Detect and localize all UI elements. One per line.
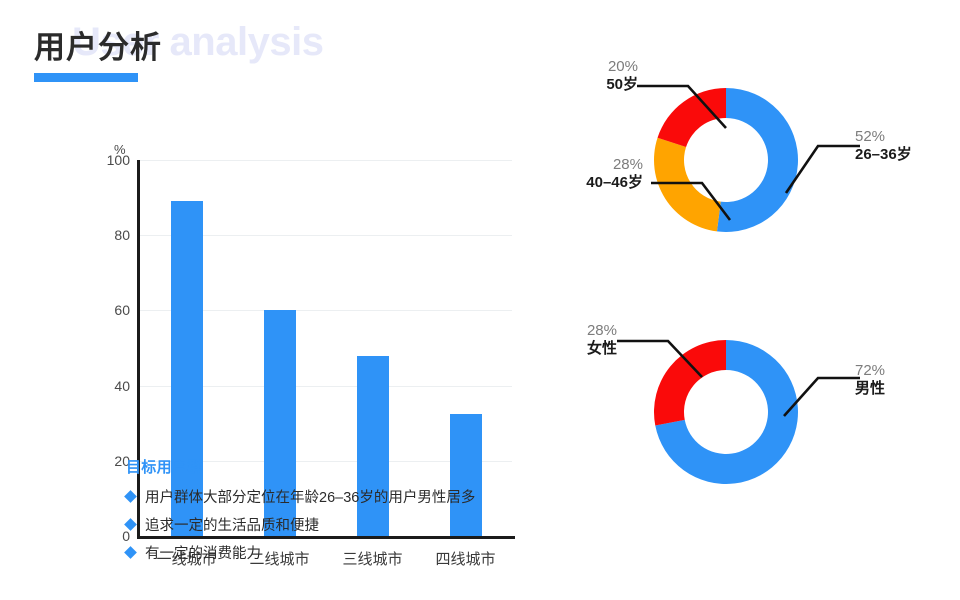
diamond-icon: [124, 546, 137, 559]
donut-age-label-50: 20% 50岁: [540, 58, 638, 95]
diamond-icon: [124, 490, 137, 503]
target-user-group-panel: 目标用户群 用户群体大部分定位在年龄26–36岁的用户男性居多追求一定的生活品质…: [126, 456, 546, 570]
donut-age-name-26-36: 26–36岁: [855, 146, 912, 164]
donut-slice[interactable]: [654, 138, 721, 232]
bar-chart-y-tick: 40: [114, 378, 130, 394]
list-item: 追求一定的生活品质和便捷: [126, 514, 546, 535]
list-item-label: 用户群体大部分定位在年龄26–36岁的用户男性居多: [145, 486, 475, 507]
donut-age-pct-50: 20%: [540, 58, 638, 76]
donut-age-label-26-36: 52% 26–36岁: [855, 128, 912, 165]
donut-gender-svg: [654, 340, 798, 484]
bar-chart-y-tick: 100: [107, 152, 130, 168]
donut-slice[interactable]: [654, 340, 726, 425]
donut-age-name-50: 50岁: [540, 76, 638, 94]
donut-slice[interactable]: [717, 88, 798, 232]
list-item-label: 追求一定的生活品质和便捷: [145, 514, 319, 535]
page-title: 用户分析: [34, 22, 162, 67]
donut-gender-label-female: 28% 女性: [545, 322, 617, 359]
donut-age-name-40-46: 40–46岁: [530, 174, 643, 192]
donut-gender-name-male: 男性: [855, 380, 885, 398]
donut-age-pct-26-36: 52%: [855, 128, 912, 146]
list-item: 用户群体大部分定位在年龄26–36岁的用户男性居多: [126, 486, 546, 507]
bar-chart-y-tick: 80: [114, 227, 130, 243]
slide-canvas: User analysis 用户分析 % 020406080100 一线城市二线…: [0, 0, 960, 600]
bullets-heading: 目标用户群: [126, 456, 546, 477]
bar-chart-y-tick: 60: [114, 302, 130, 318]
diamond-icon: [124, 518, 137, 531]
donut-gender-pct-female: 28%: [545, 322, 617, 340]
donut-age-svg: [654, 88, 798, 232]
donut-gender-pct-male: 72%: [855, 362, 885, 380]
donut-chart-age: [654, 88, 798, 232]
bullets-list: 用户群体大部分定位在年龄26–36岁的用户男性居多追求一定的生活品质和便捷有一定…: [126, 486, 546, 563]
list-item-label: 有一定的消费能力: [145, 542, 261, 563]
bar-chart-city-tier: % 020406080100 一线城市二线城市三线城市四线城市: [100, 140, 520, 440]
donut-gender-name-female: 女性: [545, 340, 617, 358]
donut-gender-label-male: 72% 男性: [855, 362, 885, 399]
donut-slice[interactable]: [658, 88, 726, 147]
list-item: 有一定的消费能力: [126, 542, 546, 563]
donut-chart-gender: [654, 340, 798, 484]
donut-age-pct-40-46: 28%: [530, 156, 643, 174]
page-title-block: User analysis 用户分析: [34, 22, 162, 82]
title-underline-rule: [34, 73, 138, 82]
donut-age-label-40-46: 28% 40–46岁: [530, 156, 643, 193]
